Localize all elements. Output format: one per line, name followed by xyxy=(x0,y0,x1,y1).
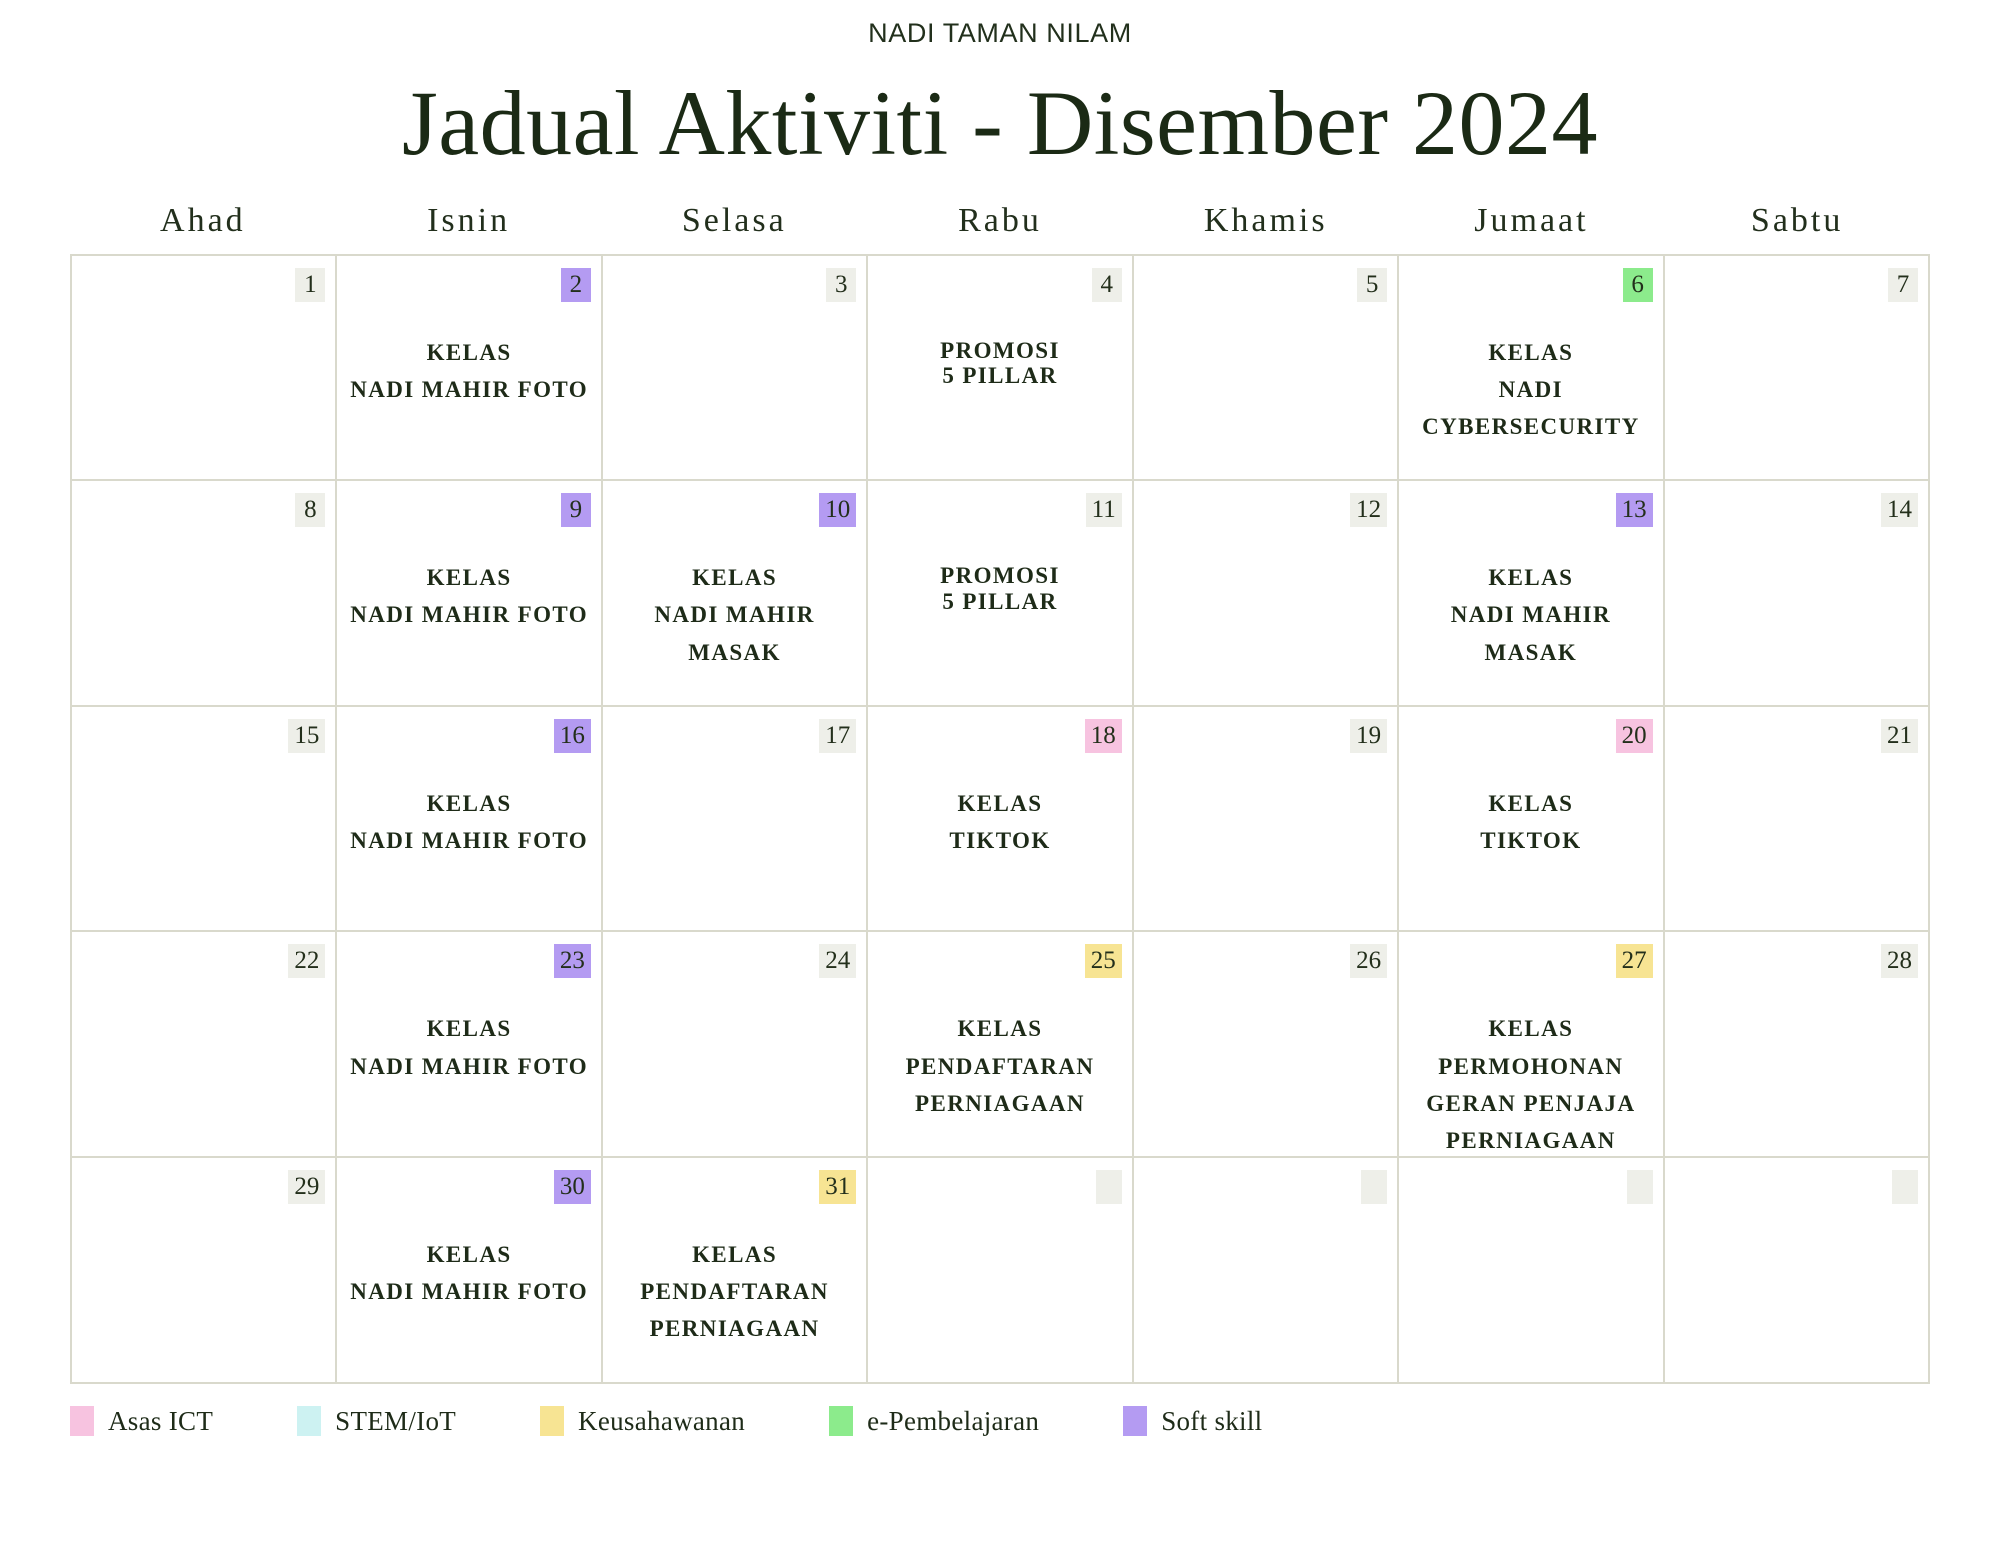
day-cell-15[interactable]: 15 xyxy=(72,707,337,933)
legend-swatch-icon xyxy=(297,1406,321,1436)
event-label: KELAS NADI MAHIR FOTO xyxy=(343,1010,594,1085)
day-number-badge: 9 xyxy=(561,493,591,527)
weekday-header-selasa: Selasa xyxy=(601,202,867,254)
day-number-badge: 22 xyxy=(288,944,325,978)
day-cell-3[interactable]: 3 xyxy=(603,256,868,482)
event-label: KELAS NADI MAHIR MASAK xyxy=(1405,559,1656,671)
legend-swatch-icon xyxy=(1123,1406,1147,1436)
legend-label: Asas ICT xyxy=(108,1406,213,1437)
day-cell-12[interactable]: 12 xyxy=(1134,481,1399,707)
day-cell-25[interactable]: 25KELAS PENDAFTARAN PERNIAGAAN xyxy=(868,932,1133,1158)
organization-name: NADI TAMAN NILAM xyxy=(0,0,2000,49)
day-number-badge: 4 xyxy=(1092,268,1122,302)
day-number-badge: 26 xyxy=(1350,944,1387,978)
event-label: KELAS PENDAFTARAN PERNIAGAAN xyxy=(609,1236,860,1348)
day-number-badge: 2 xyxy=(561,268,591,302)
day-cell-1[interactable]: 1 xyxy=(72,256,337,482)
day-number-badge: 8 xyxy=(295,493,325,527)
legend-item-pink: Asas ICT xyxy=(70,1406,213,1437)
legend-item-green: e-Pembelajaran xyxy=(829,1406,1039,1437)
legend-label: Soft skill xyxy=(1161,1406,1262,1437)
day-cell-2[interactable]: 2KELAS NADI MAHIR FOTO xyxy=(337,256,602,482)
day-cell-24[interactable]: 24 xyxy=(603,932,868,1158)
weekday-header-ahad: Ahad xyxy=(70,202,336,254)
day-cell-17[interactable]: 17 xyxy=(603,707,868,933)
day-cell-4[interactable]: 4PROMOSI 5 PILLAR xyxy=(868,256,1133,482)
legend-item-purple: Soft skill xyxy=(1123,1406,1262,1437)
day-cell-29[interactable]: 29 xyxy=(72,1158,337,1384)
day-number-badge: 18 xyxy=(1085,719,1122,753)
day-cell-16[interactable]: 16KELAS NADI MAHIR FOTO xyxy=(337,707,602,933)
day-number-badge: 30 xyxy=(554,1170,591,1204)
day-cell-10[interactable]: 10KELAS NADI MAHIR MASAK xyxy=(603,481,868,707)
day-number-badge: 6 xyxy=(1623,268,1653,302)
day-number-badge: 31 xyxy=(819,1170,856,1204)
day-number-badge xyxy=(1892,1170,1918,1204)
event-label: KELAS TIKTOK xyxy=(874,785,1125,860)
day-number-badge xyxy=(1627,1170,1653,1204)
day-number-badge: 14 xyxy=(1881,493,1918,527)
event-label: KELAS NADI MAHIR FOTO xyxy=(343,559,594,634)
day-number-badge: 23 xyxy=(554,944,591,978)
day-cell-5[interactable]: 5 xyxy=(1134,256,1399,482)
day-number-badge: 21 xyxy=(1881,719,1918,753)
event-label: KELAS NADI MAHIR FOTO xyxy=(343,785,594,860)
day-number-badge: 13 xyxy=(1616,493,1653,527)
day-cell-6[interactable]: 6KELAS NADI CYBERSECURITY xyxy=(1399,256,1664,482)
day-number-badge: 27 xyxy=(1616,944,1653,978)
day-number-badge xyxy=(1096,1170,1122,1204)
weekday-header-sabtu: Sabtu xyxy=(1664,202,1930,254)
day-number-badge xyxy=(1361,1170,1387,1204)
day-cell-19[interactable]: 19 xyxy=(1134,707,1399,933)
event-label: PROMOSI 5 PILLAR xyxy=(874,563,1125,615)
calendar-page: NADI TAMAN NILAM Jadual Aktiviti - Disem… xyxy=(0,0,2000,1545)
day-number-badge: 3 xyxy=(826,268,856,302)
event-label: KELAS NADI CYBERSECURITY xyxy=(1405,334,1656,446)
legend-label: Keusahawanan xyxy=(578,1406,745,1437)
weekday-header-jumaat: Jumaat xyxy=(1399,202,1665,254)
day-number-badge: 5 xyxy=(1357,268,1387,302)
day-number-badge: 1 xyxy=(295,268,325,302)
day-cell-20[interactable]: 20KELAS TIKTOK xyxy=(1399,707,1664,933)
weekday-header-row: AhadIsninSelasaRabuKhamisJumaatSabtu xyxy=(70,202,1930,254)
event-label: KELAS NADI MAHIR FOTO xyxy=(343,1236,594,1311)
day-number-badge: 20 xyxy=(1616,719,1653,753)
weekday-header-rabu: Rabu xyxy=(867,202,1133,254)
day-number-badge: 29 xyxy=(288,1170,325,1204)
day-cell-28[interactable]: 28 xyxy=(1665,932,1930,1158)
day-cell-7[interactable]: 7 xyxy=(1665,256,1930,482)
legend-swatch-icon xyxy=(829,1406,853,1436)
day-cell-27[interactable]: 27KELAS PERMOHONAN GERAN PENJAJA PERNIAG… xyxy=(1399,932,1664,1158)
calendar-grid: 12KELAS NADI MAHIR FOTO34PROMOSI 5 PILLA… xyxy=(70,254,1930,1384)
event-label: KELAS TIKTOK xyxy=(1405,785,1656,860)
day-number-badge: 11 xyxy=(1086,493,1122,527)
day-number-badge: 19 xyxy=(1350,719,1387,753)
day-cell-empty[interactable] xyxy=(1399,1158,1664,1384)
day-cell-9[interactable]: 9KELAS NADI MAHIR FOTO xyxy=(337,481,602,707)
legend-item-cyan: STEM/IoT xyxy=(297,1406,456,1437)
day-cell-13[interactable]: 13KELAS NADI MAHIR MASAK xyxy=(1399,481,1664,707)
weekday-header-khamis: Khamis xyxy=(1133,202,1399,254)
day-cell-empty[interactable] xyxy=(1665,1158,1930,1384)
day-number-badge: 24 xyxy=(819,944,856,978)
day-number-badge: 15 xyxy=(288,719,325,753)
day-number-badge: 10 xyxy=(819,493,856,527)
legend: Asas ICTSTEM/IoTKeusahawanane-Pembelajar… xyxy=(70,1406,1930,1437)
day-number-badge: 16 xyxy=(554,719,591,753)
day-cell-26[interactable]: 26 xyxy=(1134,932,1399,1158)
event-label: KELAS NADI MAHIR FOTO xyxy=(343,334,594,409)
day-number-badge: 25 xyxy=(1085,944,1122,978)
legend-swatch-icon xyxy=(540,1406,564,1436)
day-cell-empty[interactable] xyxy=(868,1158,1133,1384)
day-cell-8[interactable]: 8 xyxy=(72,481,337,707)
day-cell-22[interactable]: 22 xyxy=(72,932,337,1158)
day-cell-18[interactable]: 18KELAS TIKTOK xyxy=(868,707,1133,933)
day-number-badge: 7 xyxy=(1888,268,1918,302)
day-cell-21[interactable]: 21 xyxy=(1665,707,1930,933)
day-cell-30[interactable]: 30KELAS NADI MAHIR FOTO xyxy=(337,1158,602,1384)
day-number-badge: 12 xyxy=(1350,493,1387,527)
day-cell-31[interactable]: 31KELAS PENDAFTARAN PERNIAGAAN xyxy=(603,1158,868,1384)
day-number-badge: 17 xyxy=(819,719,856,753)
event-label: KELAS PERMOHONAN GERAN PENJAJA PERNIAGAA… xyxy=(1405,1010,1656,1158)
weekday-header-isnin: Isnin xyxy=(336,202,602,254)
day-cell-11[interactable]: 11PROMOSI 5 PILLAR xyxy=(868,481,1133,707)
page-title: Jadual Aktiviti - Disember 2024 xyxy=(0,75,2000,172)
legend-label: STEM/IoT xyxy=(335,1406,456,1437)
legend-label: e-Pembelajaran xyxy=(867,1406,1039,1437)
day-cell-empty[interactable] xyxy=(1134,1158,1399,1384)
legend-item-yellow: Keusahawanan xyxy=(540,1406,745,1437)
day-number-badge: 28 xyxy=(1881,944,1918,978)
event-label: KELAS NADI MAHIR MASAK xyxy=(609,559,860,671)
day-cell-23[interactable]: 23KELAS NADI MAHIR FOTO xyxy=(337,932,602,1158)
event-label: KELAS PENDAFTARAN PERNIAGAAN xyxy=(874,1010,1125,1122)
legend-swatch-icon xyxy=(70,1406,94,1436)
day-cell-14[interactable]: 14 xyxy=(1665,481,1930,707)
event-label: PROMOSI 5 PILLAR xyxy=(874,338,1125,390)
